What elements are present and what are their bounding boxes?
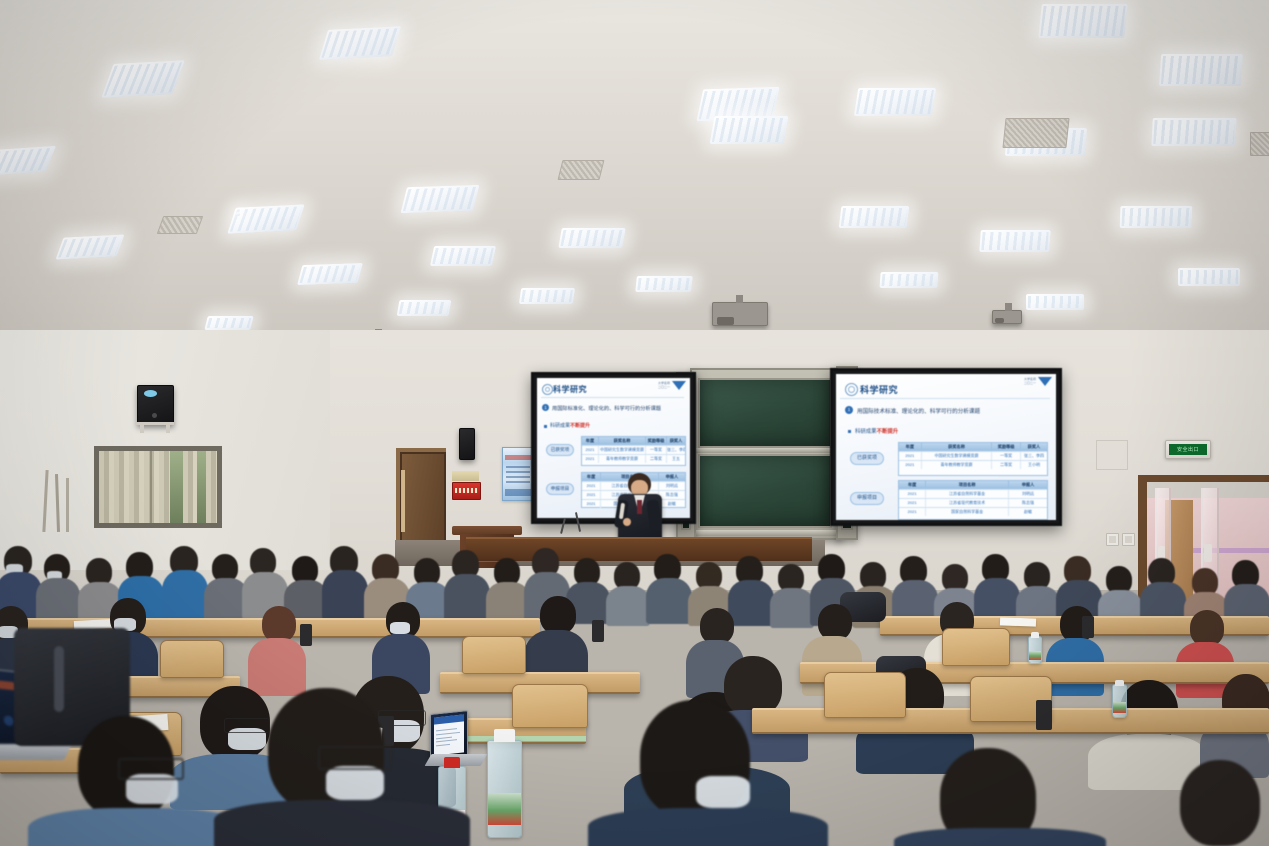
slide-table-awards: 年度 获奖名称 奖励等级 获奖人 2021 中国研究生数学建模竞赛 一等奖 张三… (581, 436, 686, 466)
ceiling-light-panel (297, 263, 363, 285)
wall-speaker-icon (137, 385, 174, 425)
slide-bullet-sub: 科研成果不断提升 (855, 427, 898, 435)
table-row: 2021 江苏省自然科学基金 刘明远 (899, 489, 1047, 498)
ceiling-light-panel (1038, 4, 1128, 38)
table-cell: 陈志强 (1009, 499, 1047, 507)
slide-bullet-main: 用国际标准化、理论化的、科学可行的分析课题 (552, 405, 661, 412)
bullet-number-badge: 1 (845, 406, 853, 414)
lecture-hall-photo: 大学名称 二〇二一 科学研究 1 用国际标准化、理论化的、科学可行的分析课题 科… (0, 0, 1269, 846)
left-wall-window (94, 446, 222, 528)
wall-panel-plate (1096, 440, 1128, 470)
ceiling-light-panel (1120, 206, 1193, 228)
ceiling-light-panel (1151, 118, 1236, 146)
ceiling-light-panel (839, 206, 910, 228)
ceiling-projector (712, 302, 768, 326)
table-header-cell: 申报人 (1009, 481, 1047, 489)
foreground-person-far-right (900, 748, 1100, 846)
table-cell: 一等奖 (992, 452, 1021, 460)
table-header-cell: 年度 (582, 473, 601, 481)
table-cell: 中国研究生数学建模竞赛 (922, 452, 993, 460)
ceiling-light-panel (400, 185, 479, 214)
table-cell: 中国研究生数学建模竞赛 (599, 446, 646, 454)
right-projection-screen: 大学名称 二〇二一 科学研究 1 用国际技术标准、理论化的、科学可行的分析课题 … (830, 368, 1062, 526)
chalkboard-center (690, 368, 842, 540)
exit-sign-text: 安全出口 (1177, 446, 1199, 453)
side-door[interactable] (400, 452, 446, 552)
foreground-person-left (34, 716, 244, 846)
ceiling-projector (992, 310, 1022, 324)
audience-body (214, 800, 470, 846)
ceiling-light-panel (979, 230, 1051, 252)
laptop-screen-glow (3, 715, 14, 726)
sub-text: 科研成果 (550, 423, 570, 429)
table-cell: 2021 (899, 452, 922, 460)
table-row: 2021 青年教师教学竞赛 二等奖 王小明 (899, 460, 1047, 469)
slide-tag-awards: 已获奖项 (850, 452, 884, 465)
exit-sign: 安全出口 (1165, 440, 1211, 459)
gear-icon (542, 384, 553, 395)
ceiling-light-panel (204, 316, 253, 330)
ceiling-air-vent (558, 160, 605, 180)
seat-back[interactable] (824, 672, 906, 718)
seat-bracket (1036, 700, 1052, 730)
ceiling-light-panel (319, 26, 401, 60)
slide-table-projects: 年度 项目名称 申报人 2021 江苏省自然科学基金 刘明远 2021 江苏省现… (898, 480, 1048, 520)
slide-brand-logo: 大学名称 二〇二一 (658, 381, 686, 390)
audience-body (894, 828, 1106, 846)
table-row: 2021 江苏省现代教育技术 陈志强 (899, 498, 1047, 507)
table-cell: 江苏省现代教育技术 (926, 499, 1009, 507)
brand-text-line2: 二〇二一 (1024, 382, 1036, 385)
table-header-cell: 年度 (899, 481, 926, 489)
sub-text: 科研成果 (855, 429, 877, 435)
right-slide-content: 大学名称 二〇二一 科学研究 1 用国际技术标准、理论化的、科学可行的分析课题 … (836, 374, 1056, 520)
table-header-cell: 年度 (899, 443, 922, 451)
brand-text-line2: 二〇二一 (658, 386, 670, 389)
table-cell: 一等奖 (646, 446, 667, 454)
wall-speaker-icon (459, 428, 475, 460)
table-cell: 赵敏 (1009, 508, 1047, 516)
table-cell: 2021 (582, 491, 601, 499)
presenter (612, 473, 668, 545)
table-cell: 刘明远 (1009, 490, 1047, 498)
foreground-person-edge-right (1170, 760, 1269, 846)
ceiling-light-panel (1178, 268, 1240, 286)
table-header-cell: 获奖名称 (599, 437, 646, 445)
brand-mark-icon (1038, 377, 1052, 386)
table-header-cell: 年度 (582, 437, 599, 445)
table-cell: 二等奖 (646, 455, 667, 463)
table-header-cell: 奖励等级 (646, 437, 667, 445)
ceiling-light-panel (0, 146, 56, 177)
presenter-tie (637, 500, 642, 514)
ceiling-light-panel (1159, 54, 1243, 86)
ceiling-light-panel (101, 60, 185, 98)
table-cell: 青年教师教学竞赛 (599, 455, 646, 463)
table-cell: 国家自然科学基金 (926, 508, 1009, 516)
table-header-cell: 获奖人 (667, 437, 685, 445)
table-row: 2021 国家自然科学基金 赵敏 (899, 507, 1047, 516)
ceiling-light-panel (1026, 294, 1084, 310)
brand-mark-icon (672, 381, 686, 390)
ceiling-air-vent (1250, 132, 1269, 156)
slide-brand-logo: 大学名称 二〇二一 (1024, 377, 1052, 386)
backpack-strap (54, 646, 64, 712)
table-cell: 王五 (667, 455, 685, 463)
exit-sign-panel: 安全出口 (1169, 444, 1207, 456)
table-header-cell: 获奖名称 (922, 443, 993, 451)
ceiling-light-panel (558, 228, 626, 248)
ceiling-light-panel (55, 234, 124, 259)
bullet-number-badge: 1 (542, 404, 549, 411)
ceiling (0, 0, 1269, 375)
table-cell: 二等奖 (992, 461, 1021, 469)
sub-text-highlight: 不断提升 (877, 429, 899, 435)
table-cell: 2021 (899, 490, 926, 498)
ceiling-light-panel (430, 246, 496, 266)
slide-tag-projects: 申报项目 (850, 492, 884, 505)
wall-sign-plate (452, 471, 479, 481)
table-cell: 张三、李四 (667, 446, 685, 454)
table-cell: 张三、李四 (1021, 452, 1047, 460)
table-row: 2021 中国研究生数学建模竞赛 一等奖 张三、李四 (899, 451, 1047, 460)
foreground-person-right (592, 700, 822, 846)
water-bottle (1112, 684, 1127, 718)
ceiling-air-vent (1002, 118, 1069, 148)
table-cell: 2021 (582, 446, 599, 454)
ceiling-air-vent (157, 216, 204, 234)
presenter-hand (623, 518, 631, 526)
slide-tag-projects: 申报项目 (546, 483, 574, 495)
audience-head (540, 596, 576, 634)
table-cell: 2021 (899, 499, 926, 507)
door-light-edge (401, 470, 405, 532)
table-cell: 2021 (582, 455, 599, 463)
ceiling-light-panel (227, 204, 305, 234)
table-header-cell: 获奖人 (1021, 443, 1047, 451)
table-header-cell: 奖励等级 (992, 443, 1021, 451)
table-cell: 2021 (582, 482, 601, 490)
ceiling-light-panel (710, 116, 789, 144)
fire-alarm-box[interactable] (452, 482, 481, 500)
audience-body (588, 808, 828, 846)
information-poster (502, 447, 534, 501)
ceiling-light-panel (236, 212, 240, 216)
table-cell: 2021 (899, 461, 922, 469)
slide-bullet-main: 用国际技术标准、理论化的、科学可行的分析课题 (857, 407, 980, 415)
slide-title: 科学研究 (860, 383, 898, 396)
table-cell: 江苏省自然科学基金 (926, 490, 1009, 498)
seat-back[interactable] (512, 684, 588, 728)
ceiling-light-panel (854, 88, 936, 116)
wall-pole (66, 478, 69, 532)
ceiling-light-panel (397, 300, 452, 316)
table-cell: 青年教师教学竞赛 (922, 461, 993, 469)
ceiling-light-panel (635, 276, 693, 292)
ceiling-light-panel (519, 288, 575, 304)
slide-table-awards: 年度 获奖名称 奖励等级 获奖人 2021 中国研究生数学建模竞赛 一等奖 张三… (898, 442, 1048, 476)
glasses (118, 758, 184, 780)
table-row: 2021 中国研究生数学建模竞赛 一等奖 张三、李四 (582, 445, 685, 454)
table-cell: 2021 (899, 508, 926, 516)
slide-title: 科学研究 (553, 384, 587, 395)
glasses (318, 746, 392, 770)
gear-icon (845, 383, 858, 396)
table-header-cell: 项目名称 (926, 481, 1009, 489)
slide-tag-awards: 已获奖项 (546, 444, 574, 456)
water-bottle (487, 740, 522, 838)
table-cell: 2021 (582, 500, 601, 508)
table-row: 2021 青年教师教学竞赛 二等奖 王五 (582, 454, 685, 463)
ceiling-light-panel (879, 272, 938, 288)
slide-bullet-sub: 科研成果不断提升 (550, 422, 590, 429)
foreground-person-center (214, 688, 464, 846)
sub-text-highlight: 不断提升 (570, 423, 590, 429)
table-cell: 王小明 (1021, 461, 1047, 469)
audience-head (1180, 760, 1260, 846)
